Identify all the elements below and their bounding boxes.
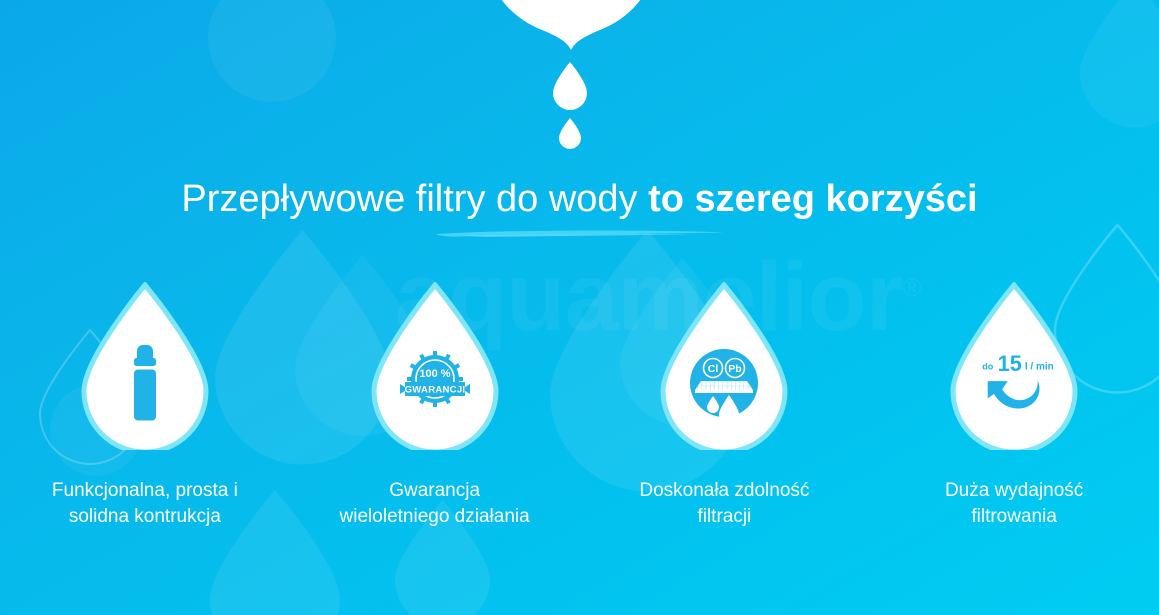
feature-caption: Duża wydajność filtrowania: [945, 478, 1083, 530]
icon-holder: Cl Pb: [685, 344, 763, 422]
heading-bold-part: to szereg korzyści: [648, 178, 977, 220]
contaminant-right-label: Pb: [729, 363, 742, 375]
heading-brush-underline-icon: [434, 228, 726, 239]
feature-item: do 15 l / min Duża wydajność filtrowania: [869, 282, 1159, 530]
feature-drop-badge: [80, 282, 210, 450]
icon-holder: [106, 344, 184, 422]
flow-value-label: 15: [998, 351, 1022, 376]
flow-prefix-label: do: [982, 361, 994, 371]
warranty-ribbon-label: GWARANCJI: [404, 385, 465, 396]
icon-holder: 100 % GWARANCJI: [396, 344, 474, 422]
feature-item: Cl Pb Doskonała zdo: [580, 282, 870, 530]
feature-drop-badge: do 15 l / min: [949, 282, 1079, 450]
water-funnel-shape-icon: [0, 0, 1159, 160]
feature-item: Funkcjonalna, prosta i solidna kontrukcj…: [0, 282, 290, 530]
feature-item: 100 % GWARANCJI Gwarancja wieloletniego …: [290, 282, 580, 530]
banner-heading: Przepływowe filtry do wody to szereg kor…: [0, 172, 1159, 226]
falling-droplet-small-icon: [559, 118, 581, 149]
filter-cartridge-icon: [117, 345, 173, 421]
flow-rate-icon: do 15 l / min: [975, 348, 1053, 418]
heading-light-part: Przepływowe filtry do wody: [181, 178, 637, 220]
warranty-seal-icon: 100 % GWARANCJI: [398, 350, 472, 416]
contaminant-left-label: Cl: [708, 363, 719, 375]
flow-unit-label: l / min: [1025, 361, 1053, 372]
falling-droplet-large-icon: [553, 62, 587, 110]
feature-caption: Gwarancja wieloletniego działania: [340, 478, 530, 530]
flow-arrow-swoosh: [988, 380, 1040, 408]
feature-caption: Doskonała zdolność filtracji: [639, 478, 809, 530]
funnel-and-drops: [0, 0, 1159, 160]
feature-list: Funkcjonalna, prosta i solidna kontrukcj…: [0, 282, 1159, 530]
mesh-plane: [695, 381, 753, 393]
warranty-percent-label: 100 %: [419, 368, 450, 380]
filtration-mesh-icon: Cl Pb: [689, 348, 759, 418]
water-filter-promo-banner: aquamelior® Przepływowe filtry do wody t…: [0, 0, 1159, 615]
icon-holder: do 15 l / min: [975, 344, 1053, 422]
feature-drop-badge: 100 % GWARANCJI: [370, 282, 500, 450]
feature-caption: Funkcjonalna, prosta i solidna kontrukcj…: [52, 478, 238, 530]
feature-drop-badge: Cl Pb: [659, 282, 789, 450]
